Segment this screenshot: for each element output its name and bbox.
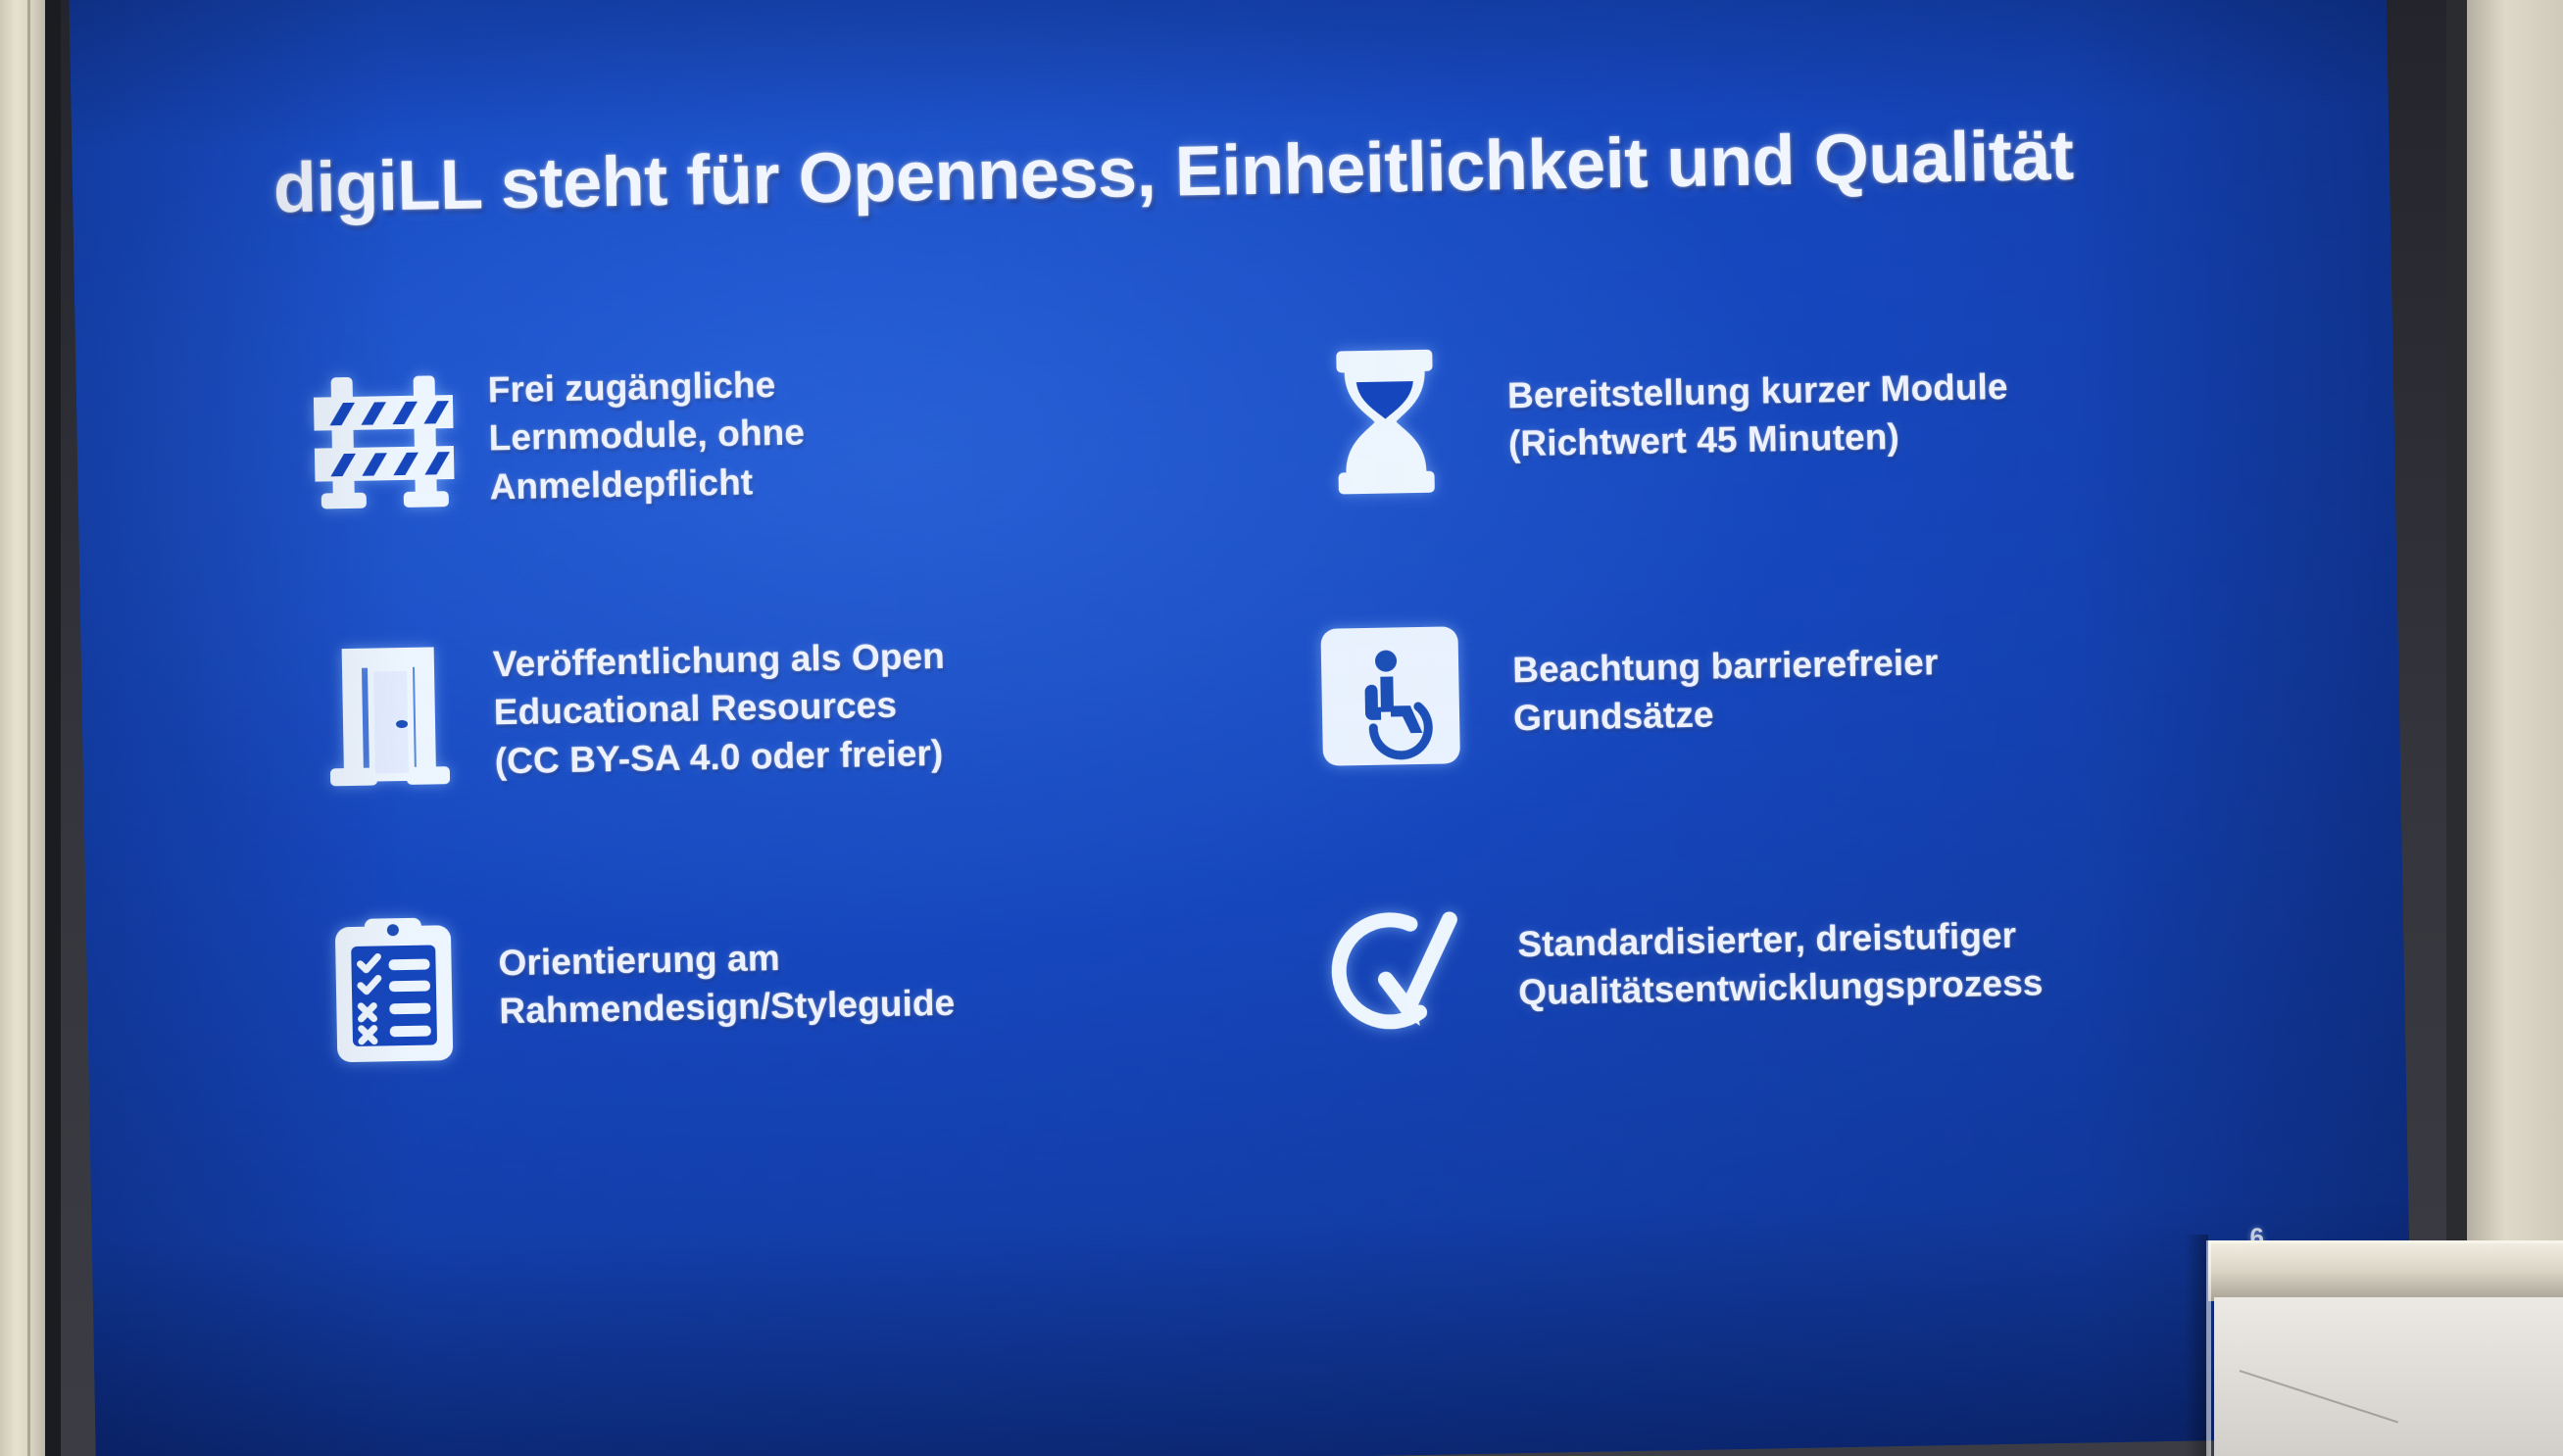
- flipchart-edge: [2206, 1240, 2211, 1456]
- flipchart-board: [2200, 1240, 2563, 1456]
- wall-seam: [27, 0, 30, 1456]
- wall-left: [0, 0, 45, 1456]
- slide-surface: digiLL steht für Openness, Einheitlichke…: [69, 0, 2413, 1456]
- paper-fold: [2240, 1370, 2398, 1423]
- projected-slide-photo: digiLL steht für Openness, Einheitlichke…: [0, 0, 2563, 1456]
- flipchart-shadow: [2185, 1235, 2208, 1456]
- flipchart-rail: [2208, 1240, 2563, 1301]
- flipchart-paper: [2214, 1297, 2563, 1456]
- slide-vignette: [69, 0, 2413, 1456]
- wall-right: [2467, 0, 2563, 1456]
